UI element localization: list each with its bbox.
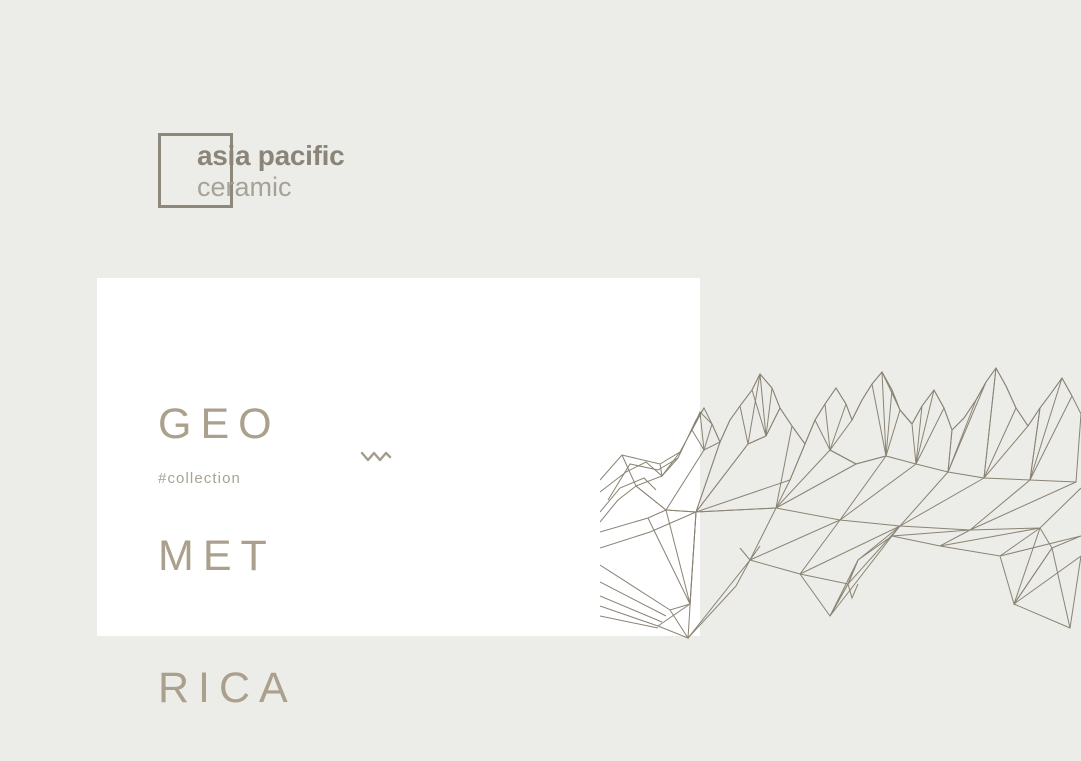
- logo-wordmark: asia pacific ceramic: [197, 141, 407, 202]
- hero-title-line-3: RICA: [158, 666, 297, 710]
- hero-title-line-1: GEO: [158, 402, 297, 446]
- logo-primary-text: asia pacific: [197, 141, 407, 171]
- hero-collection-tag: #collection: [158, 470, 241, 487]
- hero-title: GEO MET RICA: [158, 314, 297, 761]
- logo-frame-top-bar: [158, 133, 233, 136]
- logo-frame-bottom-bar: [158, 205, 233, 208]
- hero-title-line-2: MET: [158, 534, 297, 578]
- wave-divider-icon: [360, 448, 392, 466]
- logo-secondary-text: ceramic: [197, 172, 407, 202]
- logo-frame-left-bar: [158, 133, 161, 208]
- brand-logo[interactable]: asia pacific ceramic: [158, 133, 358, 215]
- page-canvas: asia pacific ceramic: [0, 0, 1081, 761]
- hero-card: GEO MET RICA #collection: [97, 278, 700, 636]
